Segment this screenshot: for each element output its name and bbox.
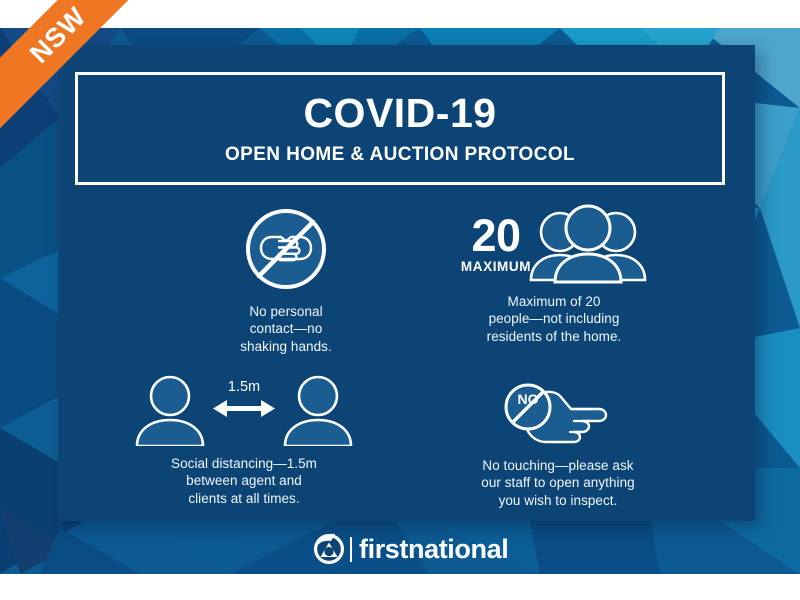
caption-line: No touching—please ask (481, 457, 634, 474)
group-of-people-icon (529, 204, 647, 284)
caption-line: people—not including (487, 310, 622, 327)
protocol-item-caption: No touching—please ask our staff to open… (481, 457, 634, 509)
caption-line: residents of the home. (487, 328, 622, 345)
caption-line: you wish to inspect. (481, 492, 634, 509)
double-arrow-icon (211, 398, 277, 420)
caption-line: our staff to open anything (481, 474, 634, 491)
logo-wordmark: firstnational (359, 536, 508, 563)
caption-line: clients at all times. (171, 490, 317, 507)
caption-line: contact—no (240, 320, 332, 337)
protocol-item-no-touching: NO No touching—please ask our staff to o… (428, 378, 688, 509)
caption-line: between agent and (171, 472, 317, 489)
title-box: COVID-19 OPEN HOME & AUCTION PROTOCOL (75, 72, 725, 185)
social-distancing-icon: 1.5m (131, 374, 357, 446)
max-people-cluster: 20 MAXIMUM (461, 204, 647, 284)
protocol-item-max-people: 20 MAXIMUM (424, 204, 684, 345)
page-title: COVID-19 (303, 93, 496, 134)
caption-line: No personal (240, 303, 332, 320)
protocol-item-caption: Maximum of 20 people—not including resid… (487, 293, 622, 345)
protocol-item-no-contact: No personal contact—no shaking hands. (176, 204, 396, 355)
protocol-grid: No personal contact—no shaking hands. 20… (58, 196, 755, 516)
distance-label: 1.5m (228, 380, 260, 395)
max-number-label: MAXIMUM (461, 259, 531, 274)
protocol-item-caption: No personal contact—no shaking hands. (240, 303, 332, 355)
caption-line: Maximum of 20 (487, 293, 622, 310)
no-touching-hand-icon: NO (494, 378, 622, 448)
no-handshake-icon (241, 204, 331, 294)
caption-line: Social distancing—1.5m (171, 455, 317, 472)
logo-divider (350, 537, 352, 562)
max-number: 20 (471, 214, 520, 257)
page-subtitle: OPEN HOME & AUCTION PROTOCOL (225, 145, 575, 164)
no-badge-label: NO (518, 391, 539, 407)
protocol-item-social-distancing: 1.5m Socia (114, 374, 374, 507)
first-national-logo: firstnational (313, 533, 508, 565)
poster-canvas: NSW COVID-19 OPEN HOME & AUCTION PROTOCO… (0, 0, 800, 600)
caption-line: shaking hands. (240, 338, 332, 355)
protocol-item-caption: Social distancing—1.5m between agent and… (171, 455, 317, 507)
first-national-logo-icon (313, 533, 345, 565)
